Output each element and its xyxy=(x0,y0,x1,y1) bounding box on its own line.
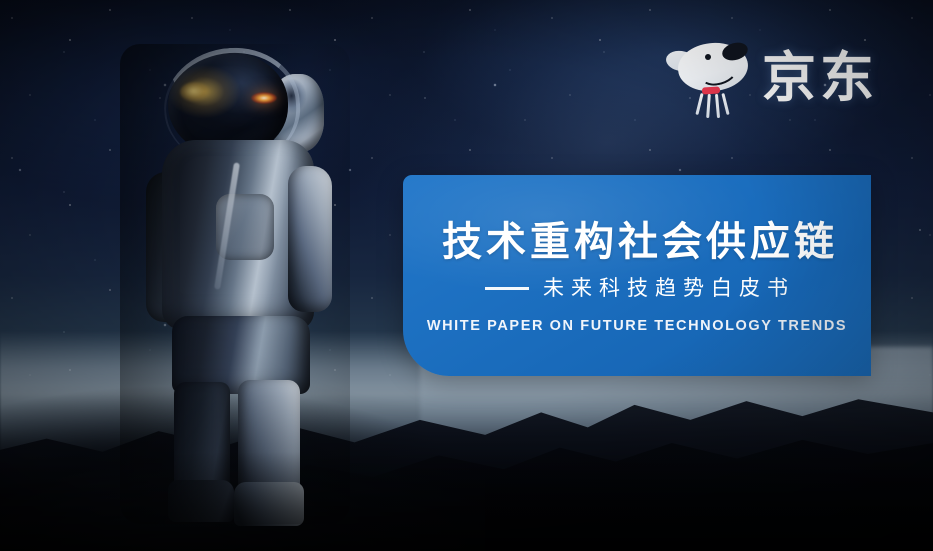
astronaut-figure xyxy=(120,44,350,524)
astronaut-right-boot xyxy=(234,482,304,526)
subtitle-text: 未来科技趋势白皮书 xyxy=(543,278,795,299)
astronaut-left-boot xyxy=(168,480,234,522)
jd-wordmark: 京东 xyxy=(762,51,878,105)
subtitle-row: 未来科技趋势白皮书 xyxy=(485,278,795,299)
title-panel: 技术重构社会供应链 未来科技趋势白皮书 WHITE PAPER ON FUTUR… xyxy=(403,175,871,376)
dog-leg-shape xyxy=(715,94,720,118)
cover-canvas: 京东 技术重构社会供应链 未来科技趋势白皮书 WHITE PAPER ON FU… xyxy=(0,0,933,551)
subtitle-dash-rule xyxy=(485,287,529,290)
dog-leg-shape xyxy=(695,93,703,115)
astronaut-visor-glint xyxy=(180,82,210,102)
main-title: 技术重构社会供应链 xyxy=(442,218,838,266)
english-subtitle: WHITE PAPER ON FUTURE TECHNOLOGY TRENDS xyxy=(427,319,847,334)
jd-logo[interactable]: 京东 xyxy=(664,36,884,120)
dog-eye-shape xyxy=(705,54,711,60)
astronaut-right-arm xyxy=(288,166,332,312)
dog-leg-shape xyxy=(721,93,729,115)
dog-leg-shape xyxy=(706,94,711,118)
panel-sheen-overlay xyxy=(403,175,871,376)
astronaut-helmet-lens-flare xyxy=(251,92,277,104)
jd-joy-dog-icon xyxy=(664,37,756,119)
